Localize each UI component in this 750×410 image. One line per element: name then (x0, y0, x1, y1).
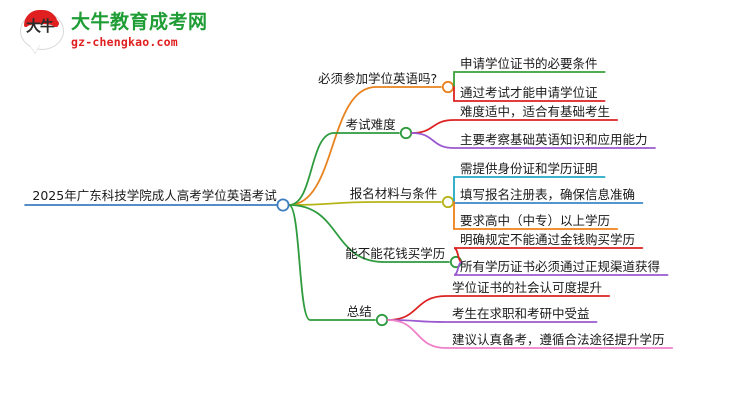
mindmap-labels: 2025年广东科技学院成人高考学位英语考试必须参加学位英语吗?申请学位证书的必要… (32, 56, 664, 347)
leaf-label-3-3[interactable]: 要求高中（中专）以上学历 (460, 213, 610, 228)
branch-node-dot-5[interactable] (377, 315, 387, 325)
leaf-label-1-1[interactable]: 申请学位证书的必要条件 (460, 56, 598, 71)
branch-label-2[interactable]: 考试难度 (346, 117, 397, 132)
branch-label-4[interactable]: 能不能花钱买学历 (345, 246, 445, 261)
branch-label-1[interactable]: 必须参加学位英语吗? (318, 71, 437, 86)
root-node-dot[interactable] (277, 199, 288, 210)
branch-link-3 (289, 202, 441, 205)
leaf-label-5-2[interactable]: 考生在求职和考研中受益 (452, 306, 590, 321)
leaf-label-5-1[interactable]: 学位证书的社会认可度提升 (452, 280, 602, 295)
branch-node-dot-1[interactable] (443, 82, 453, 92)
leaf-label-4-2[interactable]: 所有学历证书必须通过正规渠道获得 (460, 259, 660, 274)
branch-node-dot-2[interactable] (401, 128, 411, 138)
branch-node-dot-3[interactable] (443, 197, 453, 207)
leaf-label-2-2[interactable]: 主要考察基础英语知识和应用能力 (460, 132, 648, 147)
leaf-label-4-1[interactable]: 明确规定不能通过金钱购买学历 (460, 232, 635, 247)
leaf-label-3-1[interactable]: 需提供身份证和学历证明 (460, 161, 598, 176)
branch-label-3[interactable]: 报名材料与条件 (350, 186, 438, 201)
root-node-label: 2025年广东科技学院成人高考学位英语考试 (32, 188, 277, 203)
mindmap-canvas: 2025年广东科技学院成人高考学位英语考试必须参加学位英语吗?申请学位证书的必要… (0, 0, 750, 410)
leaf-label-2-1[interactable]: 难度适中，适合有基础考生 (460, 104, 610, 119)
leaf-link-3-2 (454, 202, 642, 203)
branch-label-5[interactable]: 总结 (347, 304, 372, 319)
leaf-label-1-2[interactable]: 通过考试才能申请学位证 (460, 85, 598, 100)
leaf-label-3-2[interactable]: 填写报名注册表，确保信息准确 (460, 187, 635, 202)
leaf-label-5-3[interactable]: 建议认真备考，遵循合法途径提升学历 (452, 332, 665, 347)
branch-link-5 (289, 205, 375, 320)
